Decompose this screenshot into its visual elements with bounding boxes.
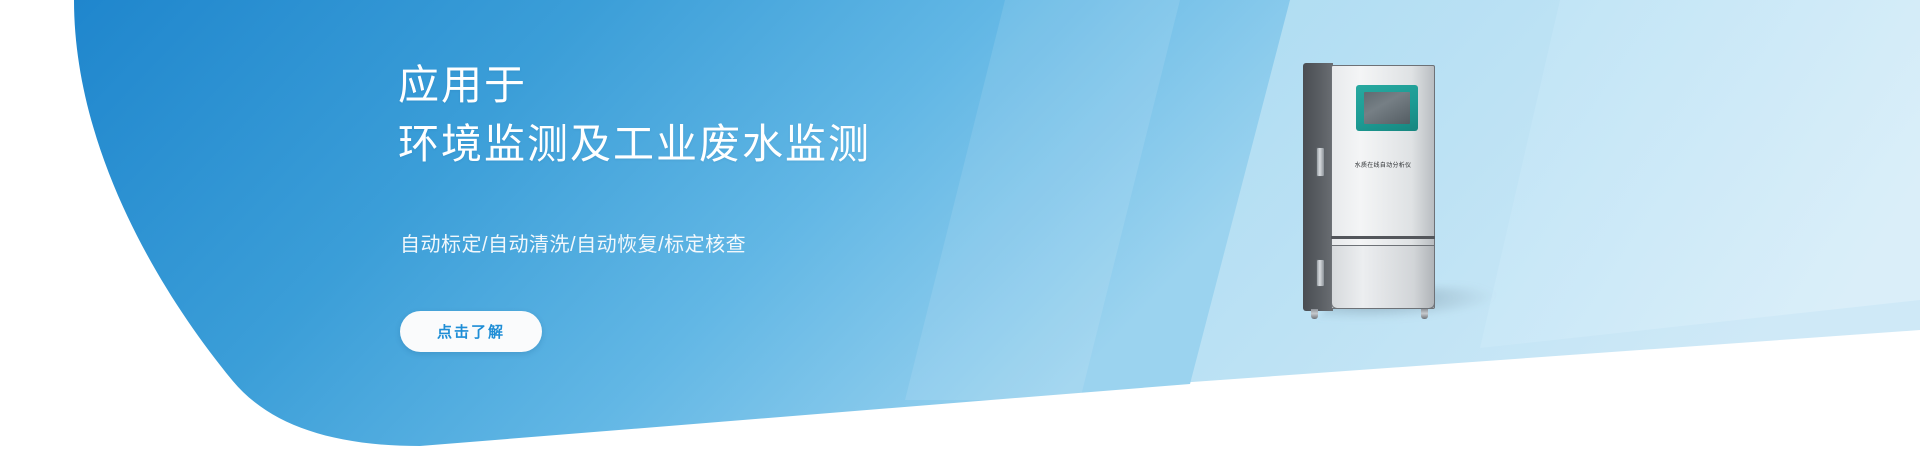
cabinet-handle-lower — [1316, 259, 1325, 287]
caster-left — [1311, 309, 1318, 319]
learn-more-button[interactable]: 点击了解 — [400, 311, 542, 352]
product-image-analyzer: 水质在线自动分析仪 — [1303, 63, 1437, 315]
banner-subtitle: 自动标定/自动清洗/自动恢复/标定核查 — [400, 231, 746, 259]
page-title: 应用于 环境监测及工业废水监测 — [398, 56, 871, 174]
display-bezel — [1356, 85, 1418, 131]
product-label: 水质在线自动分析仪 — [1333, 160, 1433, 169]
hero-banner: 应用于 环境监测及工业废水监测 自动标定/自动清洗/自动恢复/标定核查 点击了解… — [0, 0, 1920, 450]
caster-right — [1421, 309, 1428, 319]
cabinet-handle-upper — [1316, 147, 1325, 177]
display-screen — [1364, 92, 1410, 124]
banner-content: 应用于 环境监测及工业废水监测 自动标定/自动清洗/自动恢复/标定核查 点击了解 — [398, 0, 1098, 450]
cabinet-lower-section — [1331, 245, 1435, 309]
